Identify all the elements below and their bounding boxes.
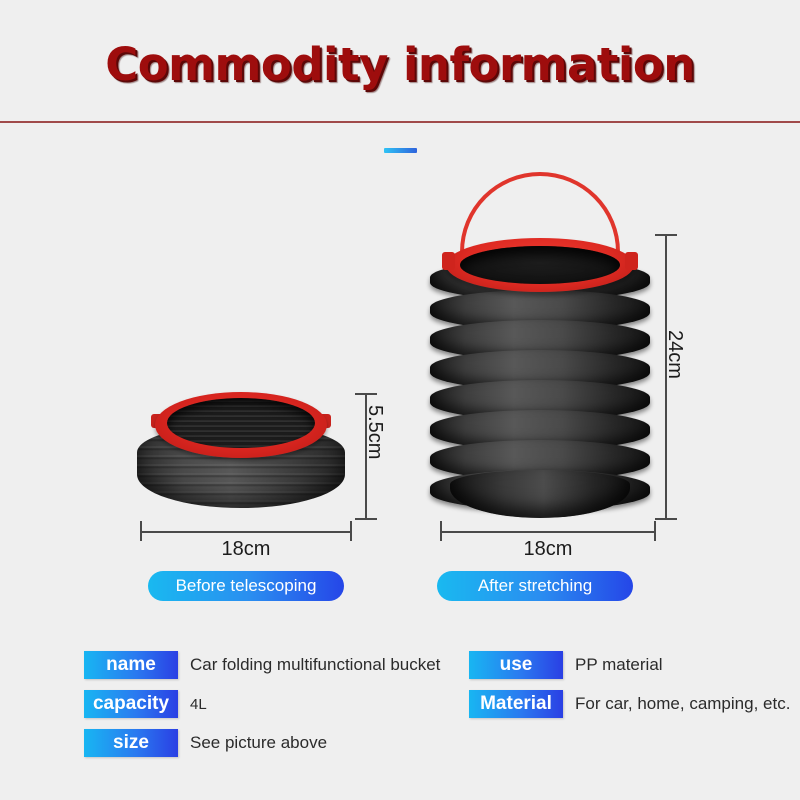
- product-info-page: Commodity information 18cm 5.5cm: [0, 0, 800, 800]
- spec-label-capacity: capacity: [84, 690, 178, 718]
- accent-bar: [384, 148, 417, 153]
- spec-value-capacity: 4L: [190, 696, 207, 713]
- bucket-base: [450, 470, 630, 518]
- spec-value-name: Car folding multifunctional bucket: [190, 655, 440, 675]
- collapsed-width-dimension-line: [140, 531, 352, 533]
- expanded-height-cap-top: [655, 234, 677, 236]
- expanded-height-cap-bottom: [655, 518, 677, 520]
- collapsed-height-label: 5.5cm: [363, 405, 386, 459]
- spec-row-capacity: capacity 4L: [84, 690, 207, 718]
- spec-value-use: PP material: [575, 655, 663, 675]
- bucket-inner-opening: [460, 246, 620, 284]
- expanded-width-label: 18cm: [440, 538, 656, 561]
- collapsed-bucket-image: [133, 386, 349, 514]
- caption-before-telescoping[interactable]: Before telescoping: [148, 571, 344, 601]
- expanded-height-label: 24cm: [663, 330, 686, 379]
- spec-label-use: use: [469, 651, 563, 679]
- bucket-inner-opening: [167, 398, 315, 448]
- spec-label-material: Material: [469, 690, 563, 718]
- spec-label-size: size: [84, 729, 178, 757]
- spec-row-name: name Car folding multifunctional bucket: [84, 651, 440, 679]
- collapsed-height-cap-bottom: [355, 518, 377, 520]
- handle-lug-right: [625, 252, 638, 270]
- spec-row-size: size See picture above: [84, 729, 327, 757]
- expanded-width-dimension-line: [440, 531, 656, 533]
- spec-label-name: name: [84, 651, 178, 679]
- expanded-bucket-image: [424, 172, 656, 518]
- handle-lug-left: [442, 252, 455, 270]
- page-title: Commodity information: [0, 38, 800, 91]
- spec-row-material: Material For car, home, camping, etc.: [469, 690, 790, 718]
- caption-after-stretching[interactable]: After stretching: [437, 571, 633, 601]
- collapsed-width-label: 18cm: [140, 538, 352, 561]
- spec-value-size: See picture above: [190, 733, 327, 753]
- spec-row-use: use PP material: [469, 651, 663, 679]
- spec-value-material: For car, home, camping, etc.: [575, 694, 790, 714]
- header-divider: [0, 121, 800, 123]
- collapsed-height-cap-top: [355, 393, 377, 395]
